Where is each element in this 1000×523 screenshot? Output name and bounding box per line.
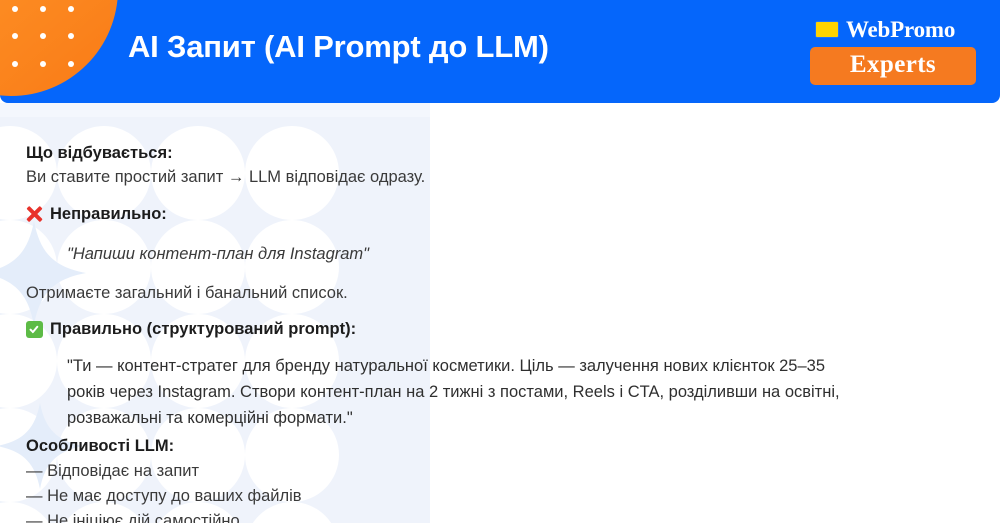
list-item: — Не ініціює дій самостійно — [26, 509, 302, 523]
logo-badge-label: Experts — [850, 51, 936, 78]
webpromo-experts-logo[interactable]: WebPromo Experts — [810, 17, 976, 85]
section-what-happens-line: Ви ставите простий запит → LLM відповіда… — [26, 165, 425, 189]
list-item: — Не має доступу до ваших файлів — [26, 484, 302, 509]
red-cross-icon — [26, 206, 43, 223]
green-check-icon — [26, 321, 43, 338]
section-features-heading: Особливості LLM: — [26, 435, 174, 457]
section-wrong-heading: Неправильно: — [26, 203, 167, 225]
slide: AI Запит (AI Prompt до LLM) WebPromo Exp… — [0, 0, 1000, 523]
section-wrong-result: Отримаєте загальний і банальний список. — [26, 281, 348, 305]
section-right-quote-line-1: "Ти — контент-стратег для бренду натурал… — [67, 353, 927, 379]
list-item: — Відповідає на запит — [26, 459, 302, 484]
section-right-heading: Правильно (структурований prompt): — [26, 318, 356, 340]
section-right-quote-line-3: розважальні та комерційні формати." — [67, 405, 927, 431]
section-right-quote: "Ти — контент-стратег для бренду натурал… — [67, 353, 927, 431]
logo-wordmark-row: WebPromo — [810, 17, 976, 42]
page-title: AI Запит (AI Prompt до LLM) — [128, 26, 549, 68]
logo-word: WebPromo — [846, 17, 955, 42]
section-what-happens-heading: Що відбувається: — [26, 142, 173, 164]
dot-grid-decoration — [0, 0, 130, 90]
section-features-list: — Відповідає на запит — Не має доступу д… — [26, 459, 302, 523]
section-wrong-quote: "Напиши контент-план для Instagram" — [67, 242, 369, 266]
logo-experts-badge: Experts — [810, 47, 976, 85]
slide-body: Що відбувається: Ви ставите простий запи… — [0, 103, 1000, 523]
section-right-quote-line-2: років через Instagram. Створи контент-пл… — [67, 379, 927, 405]
ukraine-flag-icon — [816, 22, 838, 37]
